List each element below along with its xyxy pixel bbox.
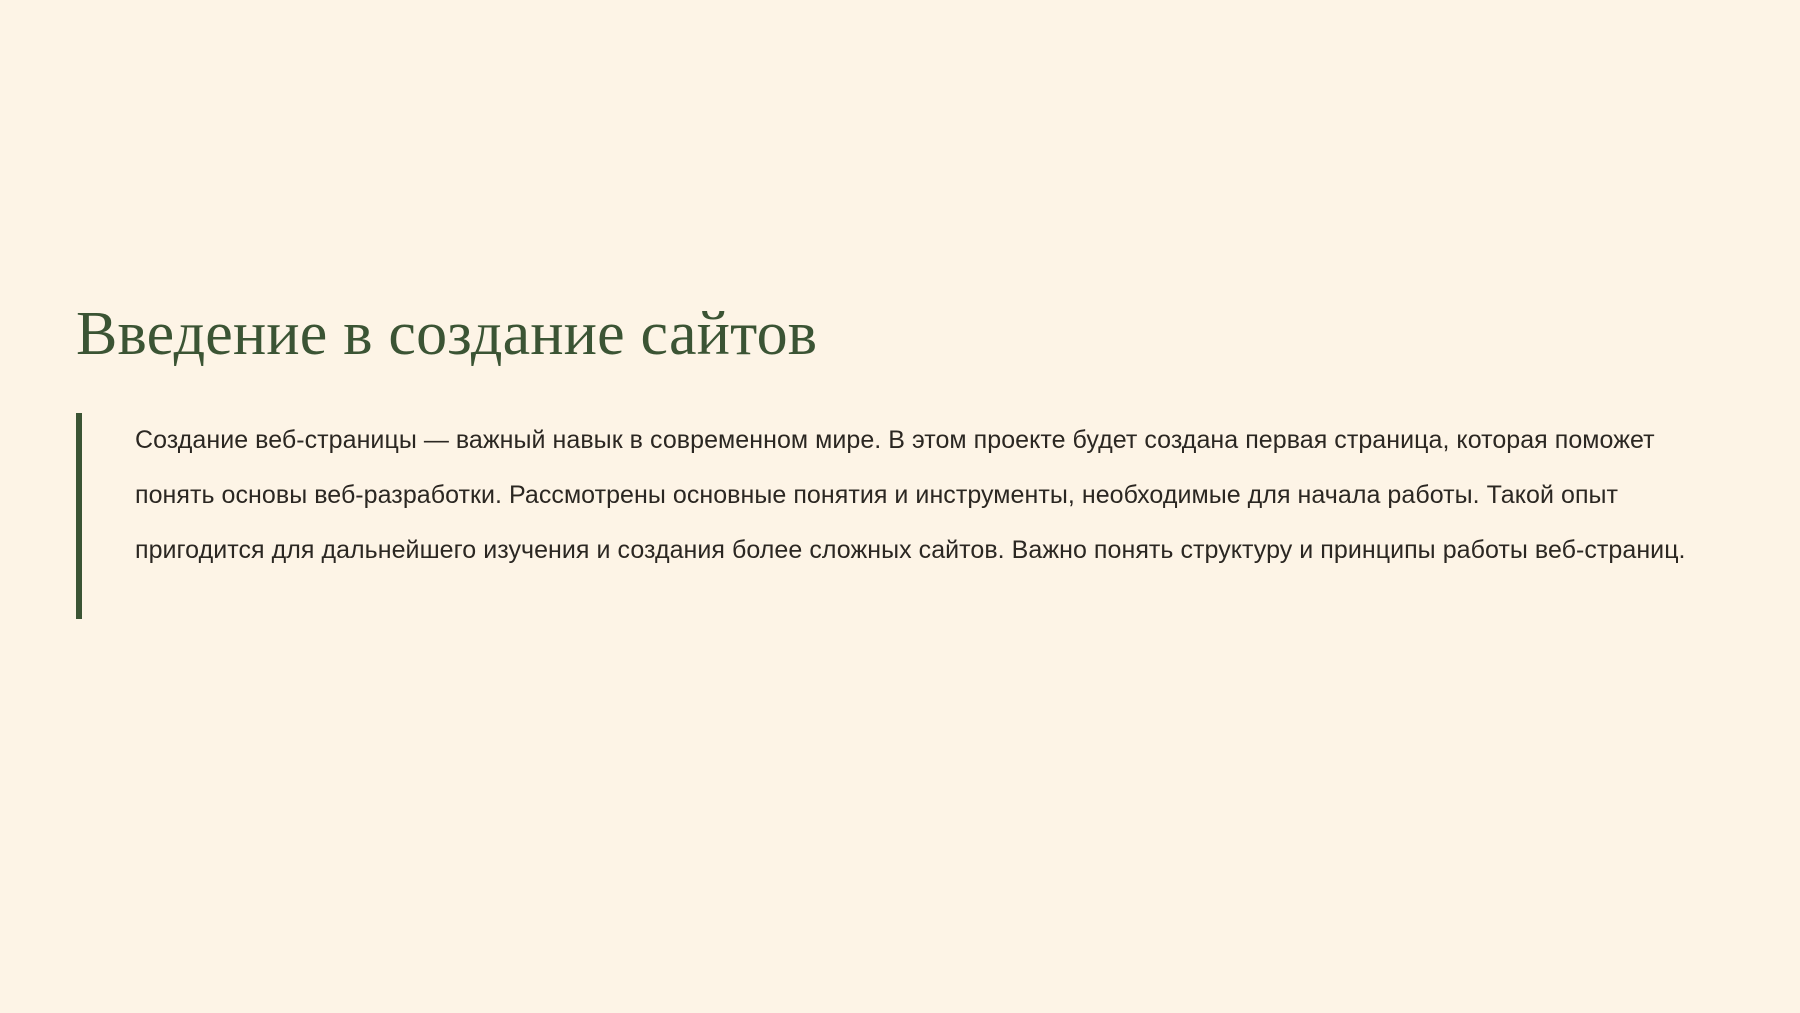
page-root: Введение в создание сайтов Создание веб-…	[0, 0, 1800, 1013]
article-content: Введение в создание сайтов Создание веб-…	[76, 300, 1736, 578]
page-title: Введение в создание сайтов	[76, 300, 1736, 368]
accent-bar	[76, 413, 82, 619]
intro-paragraph: Создание веб-страницы — важный навык в с…	[135, 413, 1735, 578]
intro-blockquote: Создание веб-страницы — важный навык в с…	[76, 413, 1736, 578]
